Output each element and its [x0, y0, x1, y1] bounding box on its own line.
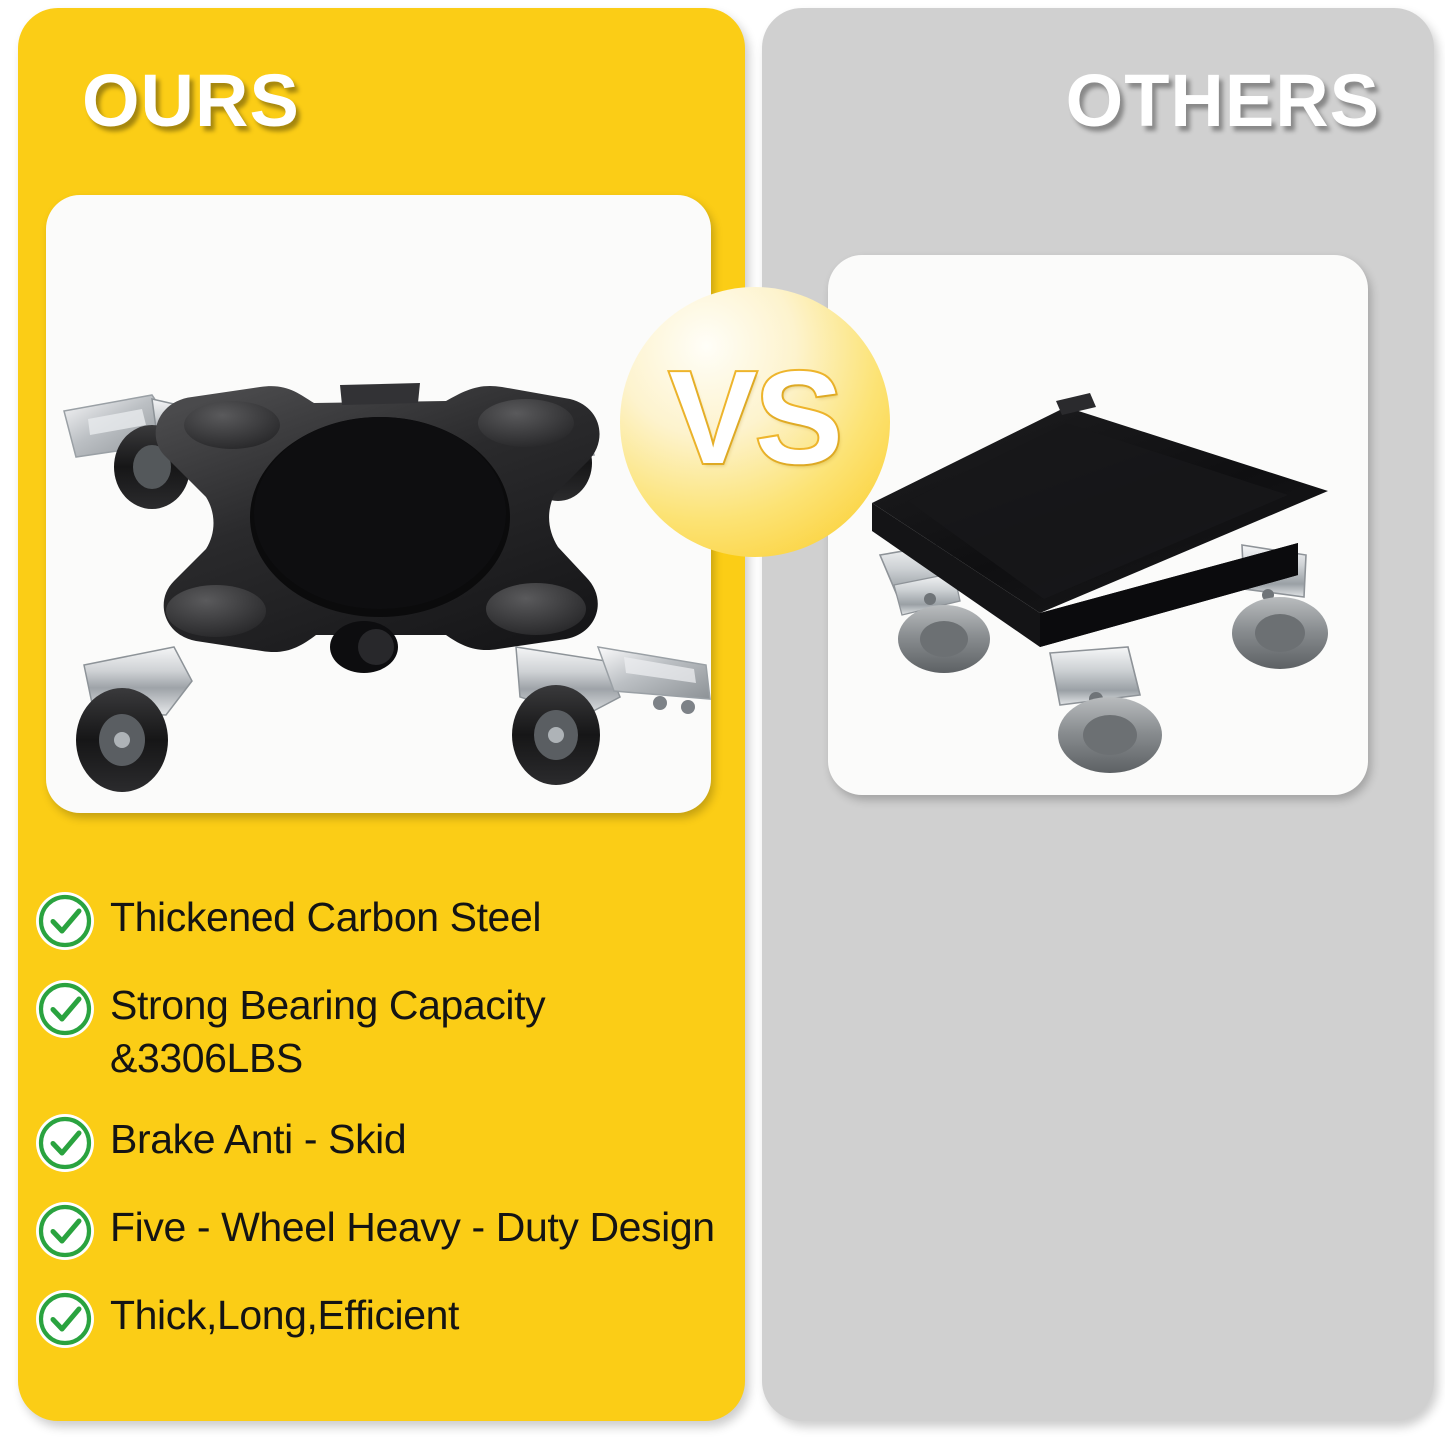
others-product-image-card: [828, 255, 1368, 795]
list-item-label: Thickened Carbon Steel: [110, 888, 541, 944]
five-wheel-dolly-illustration: [46, 195, 711, 813]
list-item: Thick,Long,Efficient: [34, 1286, 745, 1350]
four-wheel-flat-dolly-illustration: [828, 255, 1368, 795]
check-circle-icon: [34, 890, 96, 952]
list-item: Thickened Carbon Steel: [34, 888, 745, 952]
ours-title: OURS: [82, 64, 300, 138]
list-item-label: Five - Wheel Heavy - Duty Design: [110, 1198, 715, 1254]
check-circle-icon: [34, 1288, 96, 1350]
check-circle-icon: [34, 978, 96, 1040]
ours-product-image-card: [46, 195, 711, 813]
others-title: OTHERS: [1066, 64, 1380, 138]
list-item-label: Thick,Long,Efficient: [110, 1286, 459, 1342]
list-item-label: Strong Bearing Capacity &3306LBS: [110, 976, 545, 1086]
list-item-label: Brake Anti - Skid: [110, 1110, 406, 1166]
vs-label: VS: [669, 352, 841, 484]
check-circle-icon: [34, 1112, 96, 1174]
check-circle-icon: [34, 1200, 96, 1262]
list-item: Five - Wheel Heavy - Duty Design: [34, 1198, 745, 1262]
ours-panel: OURS: [18, 8, 745, 1421]
ours-feature-list: Thickened Carbon Steel Strong Bearing Ca…: [34, 888, 745, 1374]
list-item: Strong Bearing Capacity &3306LBS: [34, 976, 745, 1086]
vs-badge: VS: [620, 287, 890, 557]
others-panel: OTHERS: [762, 8, 1434, 1421]
list-item: Brake Anti - Skid: [34, 1110, 745, 1174]
comparison-infographic: OURS: [0, 0, 1445, 1441]
